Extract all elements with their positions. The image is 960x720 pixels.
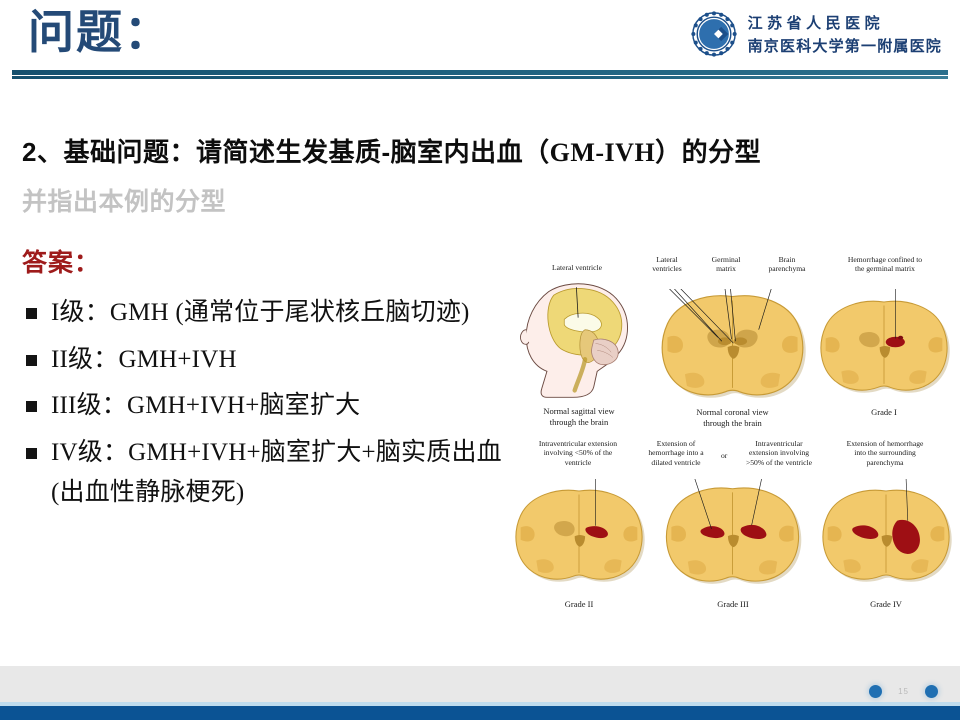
gm-ivh-grading-figure: Lateral ventricle Normal sagittal viewth… — [505, 243, 955, 623]
page-title: 问题： — [28, 6, 172, 59]
answer-item-text: IV级：GMH+IVH+脑室扩大+脑实质出血(出血性静脉梗死) — [51, 433, 526, 514]
answer-item-text: I级：GMH (通常位于尾状核丘脑切迹) — [51, 293, 470, 334]
caption-grade-4: Grade IV — [815, 599, 957, 610]
hospital-emblem-icon — [690, 10, 738, 58]
bullet-square-icon — [26, 355, 37, 366]
annotation-lateral-ventricle: Lateral ventricle — [517, 263, 637, 272]
caption-sagittal: Normal sagittal viewthrough the brain — [505, 406, 653, 427]
grade-3-brain-illustration — [655, 479, 810, 597]
annotation-grade-3-right: Intraventricularextension involving>50% … — [737, 439, 821, 467]
logo-text-block: 江苏省人民医院 南京医科大学第一附属医院 — [748, 12, 942, 56]
answer-label: 答案： — [22, 243, 100, 279]
divider-thin-bar — [12, 76, 948, 79]
answer-list: I级：GMH (通常位于尾状核丘脑切迹) II级：GMH+IVH III级：GM… — [26, 293, 526, 520]
figure-panel-grade-4: Extension of hemorrhageinto the surround… — [815, 439, 957, 615]
logo-line-secondary: 南京医科大学第一附属医院 — [748, 35, 942, 56]
footer-band — [0, 666, 960, 702]
prev-slide-dot-button[interactable] — [869, 685, 882, 698]
figure-panel-grade-1: Hemorrhage confined tothe germinal matri… — [813, 251, 955, 423]
caption-grade-2: Grade II — [505, 599, 653, 610]
bullet-square-icon — [26, 448, 37, 459]
title-divider — [12, 70, 948, 79]
caption-grade-3: Grade III — [647, 599, 819, 610]
answer-item-text: II级：GMH+IVH — [51, 340, 237, 381]
annotation-grade-3-or: or — [721, 451, 727, 460]
grade-2-brain-illustration — [505, 479, 653, 597]
annotation-brain-parenchyma: Brainparenchyma — [754, 255, 820, 274]
caption-coronal-normal: Normal coronal viewthrough the brain — [650, 407, 815, 428]
logo-line-primary: 江苏省人民医院 — [748, 12, 942, 33]
question-abbreviation: GM-IVH — [550, 138, 656, 167]
question-prefix: 2、基础问题：请简述生发基质-脑室内出血（ — [22, 137, 550, 167]
next-slide-dot-button[interactable] — [925, 685, 938, 698]
footer-bar — [0, 706, 960, 720]
annotation-grade-3-left: Extension ofhemorrhage into adilated ven… — [639, 439, 713, 467]
figure-panel-grade-3: Extension ofhemorrhage into adilated ven… — [647, 439, 819, 615]
sagittal-brain-illustration — [505, 276, 653, 406]
annotation-grade-1: Hemorrhage confined tothe germinal matri… — [819, 255, 951, 274]
slide-canvas: 问题： 江苏省人民医院 — [0, 0, 960, 720]
answer-item-text: III级：GMH+IVH+脑室扩大 — [51, 386, 360, 427]
question-subheading: 并指出本例的分型 — [22, 182, 226, 218]
question-suffix: ）的分型 — [655, 137, 761, 167]
page-number: 15 — [898, 687, 909, 696]
caption-grade-1: Grade I — [813, 407, 955, 418]
list-item: II级：GMH+IVH — [26, 340, 526, 381]
figure-panel-coronal-normal: Lateralventricles Germinalmatrix Brainpa… — [650, 251, 815, 423]
annotation-grade-2: Intraventricular extensioninvolving <50%… — [507, 439, 649, 467]
list-item: III级：GMH+IVH+脑室扩大 — [26, 386, 526, 427]
question-heading: 2、基础问题：请简述生发基质-脑室内出血（GM-IVH）的分型 — [22, 132, 761, 169]
annotation-grade-4: Extension of hemorrhageinto the surround… — [815, 439, 955, 467]
grade-4-brain-illustration — [812, 479, 960, 597]
bullet-square-icon — [26, 401, 37, 412]
slide-navigation[interactable]: 15 — [869, 685, 938, 698]
figure-panel-sagittal: Lateral ventricle Normal sagittal viewth… — [505, 263, 653, 423]
annotation-germinal-matrix: Germinalmatrix — [696, 255, 756, 274]
list-item: IV级：GMH+IVH+脑室扩大+脑实质出血(出血性静脉梗死) — [26, 433, 526, 514]
hospital-logo: 江苏省人民医院 南京医科大学第一附属医院 — [690, 10, 942, 58]
figure-panel-grade-2: Intraventricular extensioninvolving <50%… — [505, 439, 653, 615]
list-item: I级：GMH (通常位于尾状核丘脑切迹) — [26, 293, 526, 334]
coronal-brain-illustration — [650, 289, 815, 409]
annotation-lateral-ventricles: Lateralventricles — [640, 255, 694, 274]
bullet-square-icon — [26, 308, 37, 319]
grade-1-brain-illustration — [810, 289, 958, 409]
